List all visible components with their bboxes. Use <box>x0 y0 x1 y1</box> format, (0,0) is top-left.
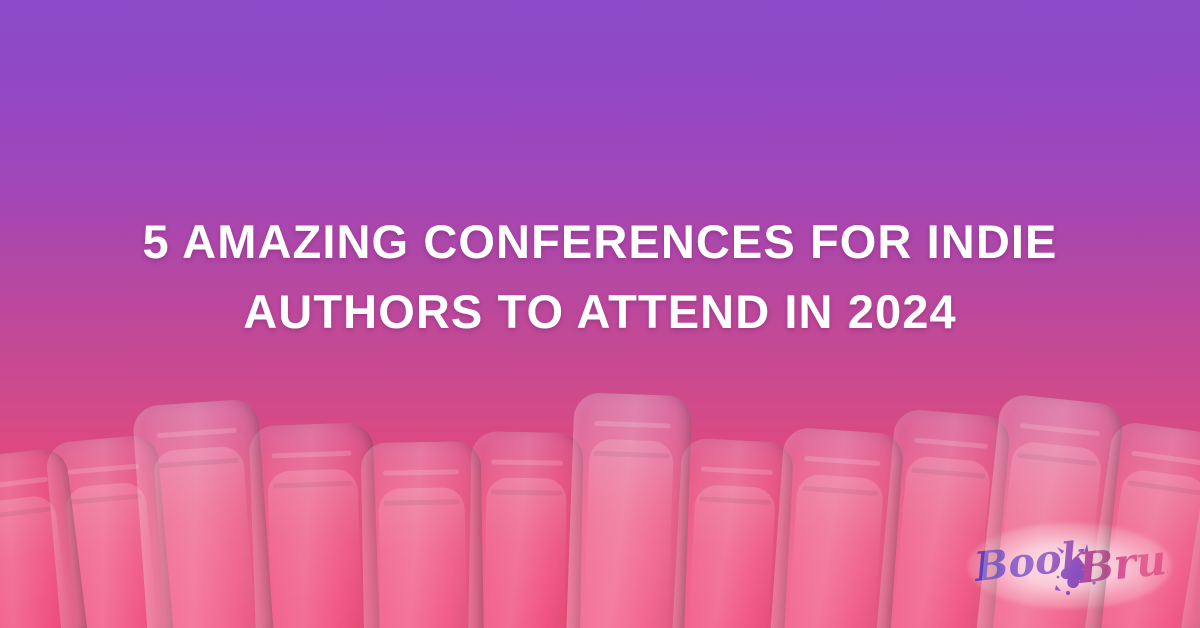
book-spine-band <box>156 428 237 439</box>
book-spine-band <box>491 459 563 465</box>
book-shelf-row <box>0 378 1200 628</box>
book-spine-band <box>272 451 352 459</box>
book-spine-band <box>0 477 48 491</box>
book-spine-band <box>1020 423 1099 436</box>
book-spine-band <box>383 469 460 475</box>
book-spine <box>468 431 584 628</box>
book-spine-band <box>699 496 771 505</box>
book-spine-band <box>70 493 142 504</box>
book-spine-band <box>804 456 881 466</box>
book-spine-band <box>273 481 353 489</box>
page-title: 5 AMAZING CONFERENCES FOR INDIE AUTHORS … <box>0 207 1200 347</box>
book-spine-band <box>491 489 563 495</box>
book-spine <box>132 398 274 628</box>
book-spine-band <box>158 458 239 469</box>
book-spine-band <box>383 499 460 505</box>
blog-banner: 5 AMAZING CONFERENCES FOR INDIE AUTHORS … <box>0 0 1200 628</box>
book-spine-band <box>67 464 139 475</box>
book-spine-band <box>1017 453 1096 466</box>
book-spine <box>566 392 692 628</box>
book-spine-band <box>914 438 988 449</box>
book-spine <box>770 426 904 628</box>
book-spine <box>361 441 484 628</box>
book-spine-band <box>595 421 671 429</box>
book-spine-band <box>0 506 51 520</box>
title-line-2: AUTHORS TO ATTEND IN 2024 <box>0 277 1200 347</box>
book-spine-band <box>1131 450 1200 466</box>
book-spine-band <box>1127 480 1200 496</box>
title-line-1: 5 AMAZING CONFERENCES FOR INDIE <box>0 207 1200 277</box>
book-spine-band <box>701 466 773 475</box>
book-spine-band <box>594 451 670 459</box>
book-spine-band <box>911 467 985 478</box>
book-spine-band <box>802 486 879 496</box>
book-spine <box>976 393 1124 628</box>
